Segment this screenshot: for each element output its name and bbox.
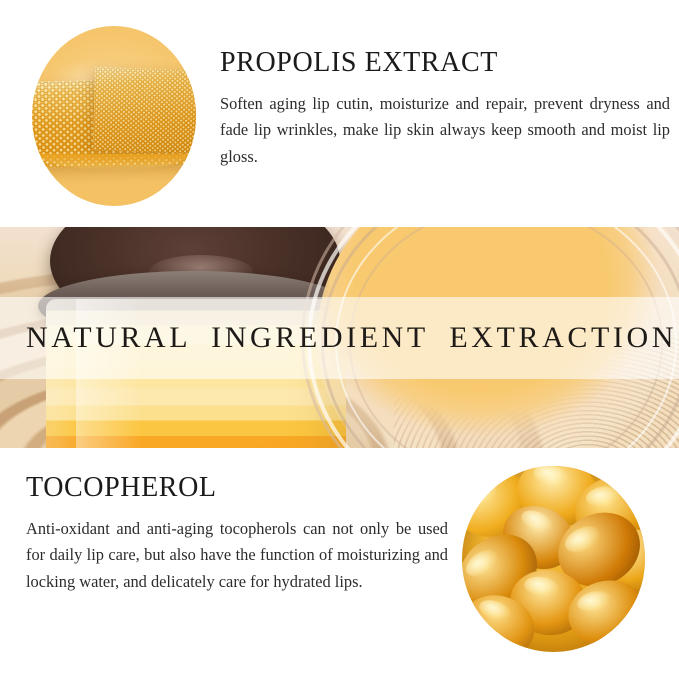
propolis-description: Soften aging lip cutin, moisturize and r… xyxy=(220,91,670,171)
propolis-text-block: PROPOLIS EXTRACT Soften aging lip cutin,… xyxy=(220,48,670,171)
propolis-section: PROPOLIS EXTRACT Soften aging lip cutin,… xyxy=(0,0,679,227)
banner-overlay-band: NATURAL INGREDIENT EXTRACTION xyxy=(0,297,679,379)
honeycomb-cells-fine xyxy=(93,67,196,154)
honey-drip xyxy=(39,154,190,170)
tocopherol-heading: TOCOPHEROL xyxy=(26,473,448,504)
tocopherol-description: Anti-oxidant and anti-aging tocopherols … xyxy=(26,516,448,596)
tocopherol-text-block: TOCOPHEROL Anti-oxidant and anti-aging t… xyxy=(26,473,448,596)
tocopherol-section: TOCOPHEROL Anti-oxidant and anti-aging t… xyxy=(0,448,679,679)
propolis-heading: PROPOLIS EXTRACT xyxy=(220,48,670,79)
honeycomb-image xyxy=(32,26,196,206)
softgel-capsules-image xyxy=(462,466,645,652)
natural-ingredient-banner: prop NATURAL INGREDIENT EXTRACTION xyxy=(0,227,679,448)
honeycomb-slab-back xyxy=(93,67,196,154)
banner-title: NATURAL INGREDIENT EXTRACTION xyxy=(0,323,677,353)
